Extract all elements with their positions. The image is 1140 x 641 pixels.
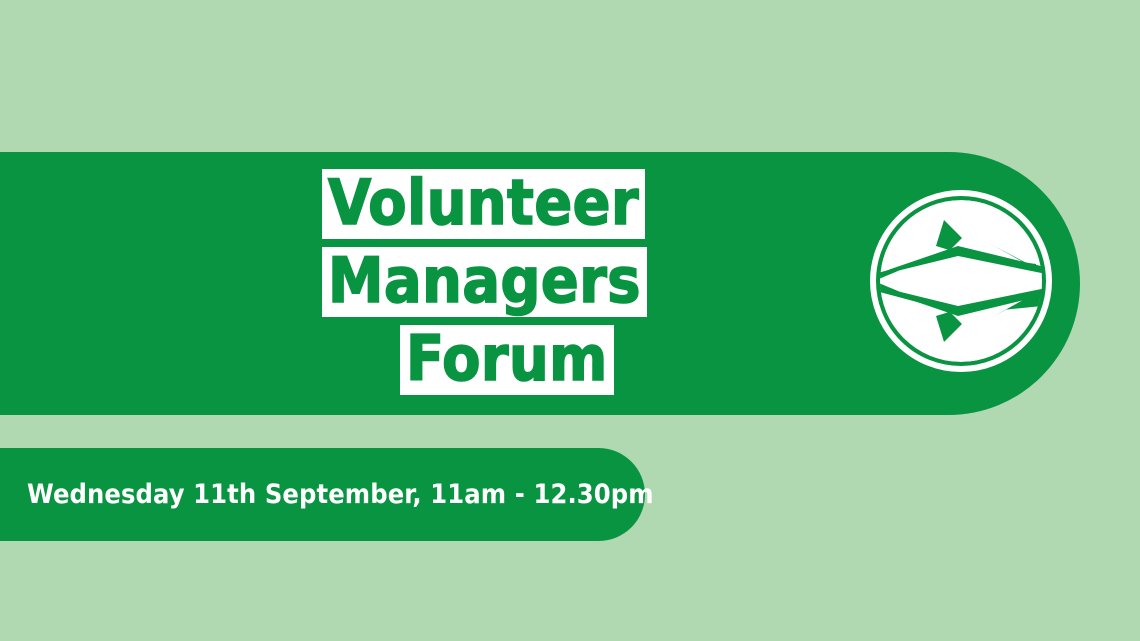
organisation-logo [866,186,1056,376]
circle-arrows-icon [866,186,1056,376]
event-date-pill: Wednesday 11th September, 11am - 12.30pm [0,448,645,541]
event-date-text: Wednesday 11th September, 11am - 12.30pm [27,479,654,510]
poster-canvas: Volunteer Managers Forum [0,0,1140,641]
